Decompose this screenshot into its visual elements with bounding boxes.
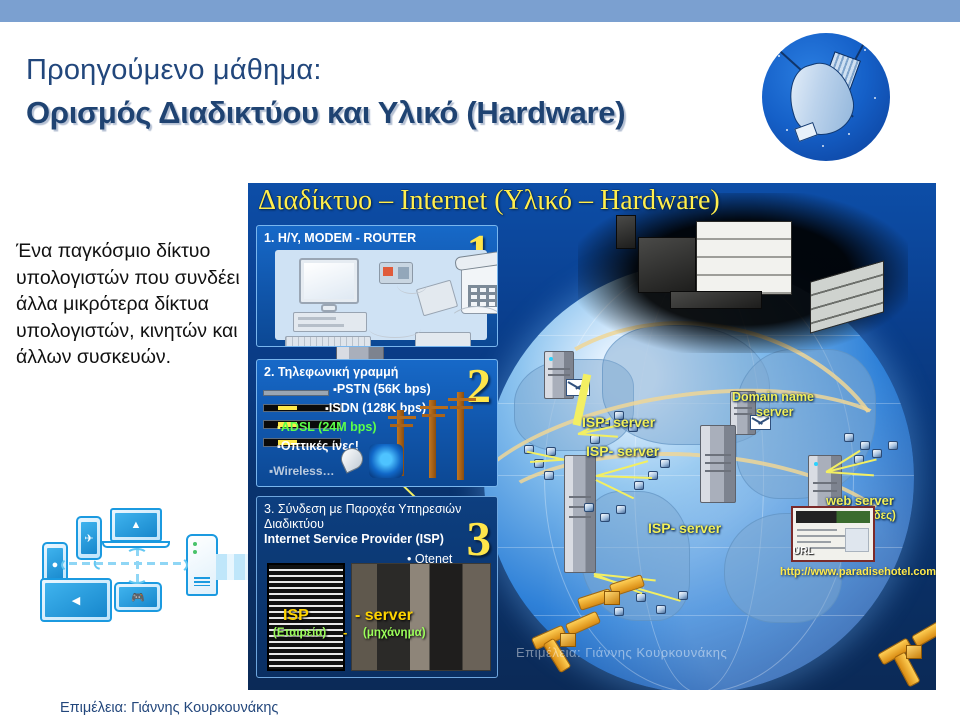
server-sublabel: (μηχάνημα) <box>363 627 426 639</box>
tablet-icon: ✈ <box>76 516 102 560</box>
url-text: http://www.paradisehotel.com <box>780 566 936 578</box>
panel-3-heading-line3: Internet Service Provider (ISP) <box>264 532 490 547</box>
panel-3-number: 3 <box>467 513 492 565</box>
monitor-icon <box>299 258 359 304</box>
television-icon: ◀ <box>40 578 112 622</box>
url-tag: URL <box>793 546 814 557</box>
game-console-icon: 🎮 <box>114 582 162 612</box>
label-domain-name-server-line2: server <box>756 405 794 419</box>
wifi-wave-icon <box>126 570 148 584</box>
satellite-dish-icon <box>762 33 890 161</box>
cable-strip <box>263 390 329 396</box>
panel-isp-connection: 3. Σύνδεση με Παροχέα Υπηρεσιών Διαδικτύ… <box>256 496 498 678</box>
label-domain-name-server-line1: Domain name <box>732 390 814 404</box>
laptop-icon: ▲ <box>110 508 162 542</box>
wifi-wave-icon <box>126 548 148 562</box>
laptop-base <box>102 541 170 548</box>
panel-2-heading: 2. Τηλεφωνική γραμμή <box>257 360 497 382</box>
utility-pole <box>429 400 436 478</box>
server-label: - server <box>355 607 413 625</box>
diagram-title: Διαδίκτυο – Internet (Υλικό – Hardware) <box>258 185 720 217</box>
panel-1-artwork <box>275 250 487 340</box>
isp-sublabel: (Εταιρεία) <box>273 627 326 639</box>
server-tower-center <box>564 455 596 573</box>
label-isp-server-upper: ISP- server <box>582 415 655 429</box>
lead-paragraph: Ένα παγκόσμιο δίκτυο υπολογιστών που συν… <box>16 238 246 371</box>
cable <box>397 276 427 294</box>
label-isp-server-right: ISP- server <box>648 521 721 535</box>
internet-hardware-diagram: Διαδίκτυο – Internet (Υλικό – Hardware) <box>248 183 936 690</box>
radio-tower-icon <box>369 444 403 478</box>
line-type-pstn: ▪PSTN (56K bps) <box>333 380 431 399</box>
panel-3-heading-line2: Διαδικτύου <box>264 517 490 532</box>
label-isp-server-lower: ISP- server <box>586 444 659 458</box>
utility-pole <box>457 392 464 480</box>
line-type-adsl: ▪ADSL (24M bps) <box>277 418 431 437</box>
page-title: Ορισμός Διαδικτύου και Υλικό (Hardware) <box>26 95 625 131</box>
wifi-devices-illustration: ● ✈ ▲ ◀ 🎮 <box>26 500 256 630</box>
desktop-tower-icon <box>293 312 367 332</box>
isp-label: ISP <box>283 607 309 625</box>
slide-canvas: Προηγούμενο μάθημα: Ορισμός Διαδικτύου κ… <box>0 0 960 720</box>
panel-2-number: 2 <box>467 360 492 412</box>
keyboard-icon <box>285 336 371 347</box>
splitter-icon <box>415 332 471 347</box>
diagram-watermark: Επιμέλεια: Γιάννης Κουρκουνάκης <box>516 645 727 660</box>
cable <box>369 320 421 338</box>
server-tower-domain <box>700 425 736 503</box>
panel-computer-modem-router: 1. Η/Υ, MODEM - ROUTER 1 <box>256 225 498 347</box>
top-accent-bar <box>0 0 960 22</box>
wifi-wave-icon <box>162 556 188 574</box>
panel-3-heading-line1: 3. Σύνδεση με Παροχέα Υπηρεσιών <box>264 502 490 517</box>
satellite-graphic <box>578 193 908 353</box>
heading-subtitle: Προηγούμενο μάθημα: <box>26 54 322 87</box>
footer-credit: Επιμέλεια: Γιάννης Κουρκουνάκης <box>60 700 278 716</box>
panel-telephone-line: 2. Τηλεφωνική γραμμή 2 ▪PSTN (56K bps) ▪… <box>256 359 498 487</box>
panel-3-heading: 3. Σύνδεση με Παροχέα Υπηρεσιών Διαδικτύ… <box>257 497 497 547</box>
router-icon <box>186 534 218 596</box>
monitor-stand <box>321 304 337 312</box>
panel-1-heading: 1. Η/Υ, MODEM - ROUTER <box>257 226 497 248</box>
dash-separator: - <box>343 625 347 640</box>
wireless-label: ▪Wireless… <box>269 464 335 478</box>
